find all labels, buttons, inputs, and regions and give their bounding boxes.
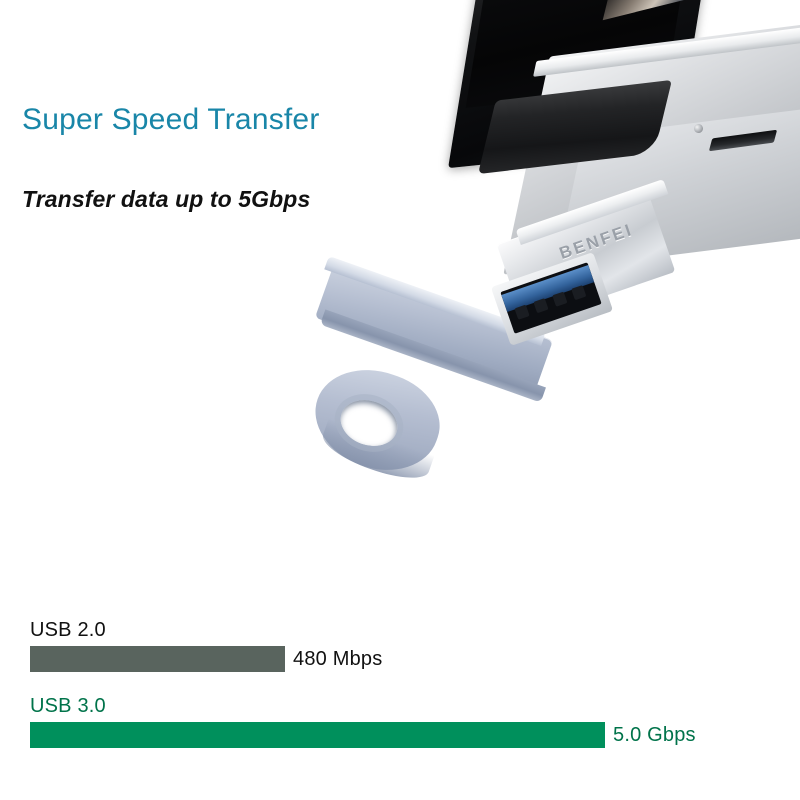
- bar-group-usb20: USB 2.0 480 Mbps: [30, 620, 770, 672]
- bar-group-usb30: USB 3.0 5.0 Gbps: [30, 696, 770, 748]
- bar-label-usb30: USB 3.0: [30, 696, 770, 716]
- speed-comparison-chart: USB 2.0 480 Mbps USB 3.0 5.0 Gbps: [30, 620, 770, 748]
- page-title: Super Speed Transfer: [22, 103, 320, 137]
- usb-port-pin: [533, 298, 548, 313]
- bar-value-usb30: 5.0 Gbps: [613, 724, 696, 747]
- usb-port-pin: [514, 305, 529, 320]
- bar-row-usb20: 480 Mbps: [30, 646, 770, 672]
- product-marketing-image: Super Speed Transfer Transfer data up to…: [0, 0, 800, 800]
- page-subtitle: Transfer data up to 5Gbps: [22, 186, 310, 213]
- bar-usb30: [30, 722, 605, 748]
- usb-port-pin: [571, 285, 586, 300]
- usb-flash-drive: BENFEI: [300, 196, 720, 496]
- bar-label-usb20: USB 2.0: [30, 620, 770, 640]
- bar-usb20: [30, 646, 285, 672]
- usb-port-pin: [552, 292, 567, 307]
- bar-value-usb20: 480 Mbps: [293, 648, 382, 671]
- bar-row-usb30: 5.0 Gbps: [30, 722, 770, 748]
